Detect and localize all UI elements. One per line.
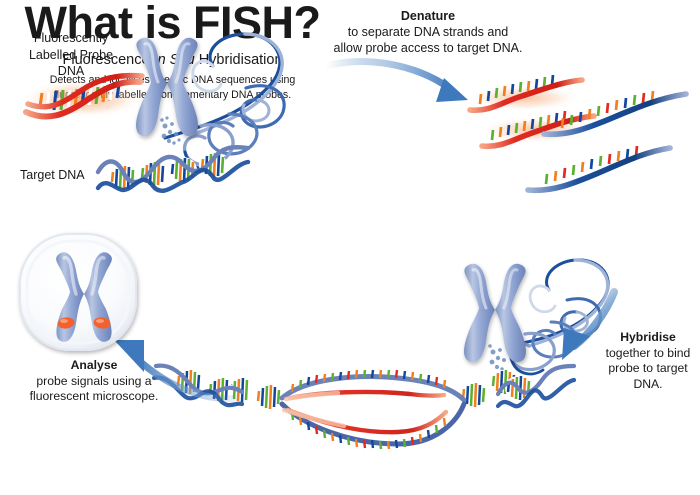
step-hybridise-line1: together to bind <box>600 346 696 362</box>
step-analyse: Analyse probe signals using a fluorescen… <box>14 358 174 405</box>
chromosome-x-shape <box>136 38 198 137</box>
arrow-denature <box>322 52 482 112</box>
step-denature-heading: Denature <box>318 8 538 24</box>
fish-diagram-canvas: Fluorescently Labelled Probe DNA <box>0 0 700 495</box>
step-hybridise-line3: DNA. <box>600 377 696 393</box>
denatured-target-strand-2 <box>524 140 674 192</box>
target-dna-helix <box>96 138 256 204</box>
step-hybridise-line2: probe to target <box>600 361 696 377</box>
step-hybridise: Hybridise together to bind probe to targ… <box>600 330 696 392</box>
hybridised-dna-region <box>230 352 520 462</box>
hybrid-helix-far-right <box>498 352 588 422</box>
step-analyse-heading: Analyse <box>14 358 174 374</box>
nucleus-with-signal <box>14 228 142 356</box>
denatured-target-strand-1 <box>540 88 690 140</box>
step-denature: Denature to separate DNA strands and all… <box>318 8 538 56</box>
step-analyse-line2: fluorescent microscope. <box>14 389 174 405</box>
probe-label-line1: Fluorescently <box>6 30 136 47</box>
step-denature-line1: to separate DNA strands and <box>318 24 538 40</box>
probe-label-line2: Labelled Probe <box>6 47 136 64</box>
step-hybridise-heading: Hybridise <box>600 330 696 346</box>
step-analyse-line1: probe signals using a <box>14 374 174 390</box>
probe-hybridised-lower <box>288 410 446 432</box>
chromosome-x-shape-right <box>464 264 526 363</box>
